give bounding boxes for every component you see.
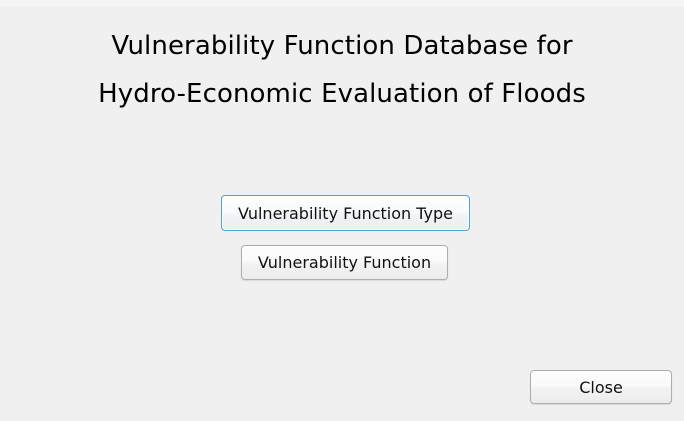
vulnerability-function-type-button-label: Vulnerability Function Type [238,204,453,223]
close-button-label: Close [579,378,623,397]
vulnerability-function-type-button[interactable]: Vulnerability Function Type [221,195,470,231]
page-title: Vulnerability Function Database for Hydr… [0,22,684,118]
close-button[interactable]: Close [530,370,672,404]
vulnerability-function-button[interactable]: Vulnerability Function [241,245,448,280]
vulnerability-function-button-label: Vulnerability Function [258,253,431,272]
page-title-line-2: Hydro-Economic Evaluation of Floods [0,70,684,118]
dialog-surface: Vulnerability Function Database for Hydr… [0,0,684,421]
page-title-line-1: Vulnerability Function Database for [0,22,684,70]
